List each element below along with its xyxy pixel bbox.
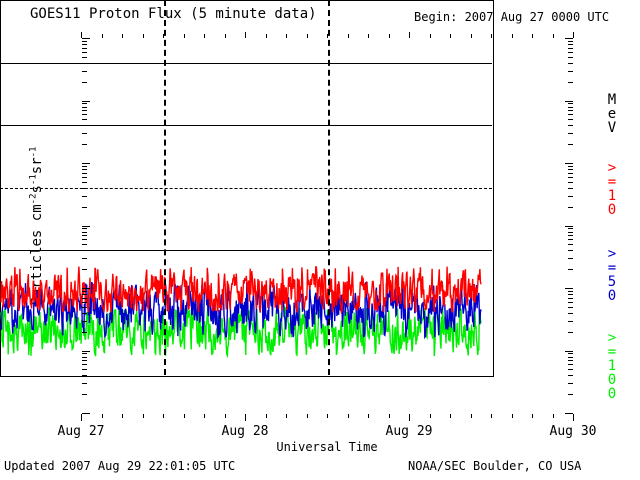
x-minor-tick (389, 414, 390, 418)
x-minor-tick (184, 414, 185, 418)
y-minor-tick (82, 360, 87, 361)
y-minor-tick (568, 207, 573, 208)
y-minor-tick (82, 269, 87, 270)
plot-area (0, 0, 494, 377)
y-minor-tick (568, 235, 573, 236)
x-minor-tick (450, 34, 451, 38)
y-minor-tick (568, 332, 573, 333)
x-minor-tick (163, 34, 164, 38)
y-major-tick (565, 101, 573, 102)
y-major-tick (565, 163, 573, 164)
y-minor-tick (568, 357, 573, 358)
x-minor-tick (307, 34, 308, 38)
x-minor-tick (471, 34, 472, 38)
x-major-tick (245, 414, 246, 421)
y-minor-tick (568, 321, 573, 322)
y-minor-tick (82, 182, 87, 183)
y-minor-tick (82, 298, 87, 299)
x-minor-tick (430, 34, 431, 38)
y-major-tick (82, 351, 90, 352)
y-minor-tick (568, 375, 573, 376)
gridline-1e0 (0, 250, 492, 251)
y-major-tick (565, 413, 573, 414)
x-minor-tick (532, 34, 533, 38)
x-minor-tick (266, 414, 267, 418)
y-minor-tick (568, 48, 573, 49)
y-minor-tick (82, 332, 87, 333)
x-minor-tick (143, 34, 144, 38)
y-minor-tick (82, 228, 87, 229)
y-major-tick (565, 288, 573, 289)
y-minor-tick (568, 307, 573, 308)
y-minor-tick (82, 232, 87, 233)
x-minor-tick (368, 414, 369, 418)
y-minor-tick (82, 250, 87, 251)
y-minor-tick (82, 375, 87, 376)
y-minor-tick (82, 239, 87, 240)
y-minor-tick (82, 114, 87, 115)
x-major-tick (573, 414, 574, 421)
y-minor-tick (82, 107, 87, 108)
x-minor-tick (286, 414, 287, 418)
y-minor-tick (568, 196, 573, 197)
y-minor-tick (82, 294, 87, 295)
y-minor-tick (568, 71, 573, 72)
y-minor-tick (82, 119, 87, 120)
y-minor-tick (82, 173, 87, 174)
x-major-tick (409, 32, 410, 38)
y-major-tick (82, 101, 90, 102)
y-minor-tick (82, 302, 87, 303)
y-minor-tick (82, 44, 87, 45)
y-minor-tick (82, 169, 87, 170)
x-minor-tick (553, 34, 554, 38)
x-minor-tick (122, 34, 123, 38)
y-minor-tick (568, 133, 573, 134)
y-minor-tick (568, 302, 573, 303)
x-minor-tick (491, 414, 492, 418)
x-minor-tick (102, 34, 103, 38)
y-minor-tick (568, 298, 573, 299)
y-minor-tick (568, 250, 573, 251)
y-minor-tick (82, 307, 87, 308)
x-minor-tick (348, 414, 349, 418)
y-minor-tick (568, 182, 573, 183)
y-minor-tick (82, 52, 87, 53)
x-minor-tick (204, 34, 205, 38)
y-major-tick (565, 38, 573, 39)
y-minor-tick (568, 360, 573, 361)
gridline-1e2 (0, 125, 492, 126)
y-minor-tick (568, 228, 573, 229)
x-minor-tick (122, 414, 123, 418)
x-major-tick (573, 32, 574, 38)
x-minor-tick (266, 34, 267, 38)
y-minor-tick (568, 394, 573, 395)
y-major-tick (82, 163, 90, 164)
y-major-tick (565, 351, 573, 352)
legend-item-ge10: >=10 (604, 160, 620, 216)
y-minor-tick (82, 133, 87, 134)
y-minor-tick (82, 57, 87, 58)
y-minor-tick (568, 232, 573, 233)
y-minor-tick (568, 82, 573, 83)
y-minor-tick (568, 239, 573, 240)
footer-source-text: NOAA/SEC Boulder, CO USA (408, 459, 581, 473)
y-minor-tick (568, 110, 573, 111)
y-minor-tick (568, 244, 573, 245)
x-minor-tick (471, 414, 472, 418)
y-minor-tick (82, 321, 87, 322)
y-minor-tick (82, 188, 87, 189)
y-minor-tick (568, 188, 573, 189)
gridline-1e1 (0, 188, 492, 189)
y-minor-tick (568, 294, 573, 295)
y-minor-tick (82, 82, 87, 83)
x-minor-tick (286, 34, 287, 38)
y-minor-tick (568, 353, 573, 354)
legend-item-ge50: >=50 (604, 246, 620, 302)
y-minor-tick (568, 107, 573, 108)
y-minor-tick (568, 103, 573, 104)
y-minor-tick (568, 173, 573, 174)
x-minor-tick (204, 414, 205, 418)
y-minor-tick (568, 63, 573, 64)
y-minor-tick (568, 313, 573, 314)
x-minor-tick (553, 414, 554, 418)
y-minor-tick (82, 244, 87, 245)
y-minor-tick (568, 57, 573, 58)
legend-item-ge100: >=100 (604, 330, 620, 400)
x-minor-tick (184, 34, 185, 38)
y-minor-tick (568, 52, 573, 53)
y-minor-tick (82, 125, 87, 126)
y-minor-tick (82, 353, 87, 354)
y-minor-tick (82, 177, 87, 178)
y-minor-tick (82, 383, 87, 384)
y-minor-tick (568, 169, 573, 170)
x-tick-label-aug30: Aug 30 (550, 424, 597, 439)
y-major-tick (82, 288, 90, 289)
x-major-tick (409, 414, 410, 421)
x-minor-tick (532, 414, 533, 418)
plot-inner (0, 0, 492, 375)
y-minor-tick (82, 63, 87, 64)
y-minor-tick (82, 313, 87, 314)
x-minor-tick (327, 414, 328, 418)
y-minor-tick (568, 166, 573, 167)
y-minor-tick (82, 144, 87, 145)
x-minor-tick (368, 34, 369, 38)
y-major-tick (565, 226, 573, 227)
y-minor-tick (568, 144, 573, 145)
x-major-tick (245, 32, 246, 38)
y-minor-tick (568, 41, 573, 42)
y-minor-tick (568, 291, 573, 292)
x-minor-tick (327, 34, 328, 38)
y-minor-tick (568, 125, 573, 126)
y-minor-tick (568, 383, 573, 384)
x-minor-tick (307, 414, 308, 418)
y-minor-tick (82, 235, 87, 236)
y-minor-tick (568, 114, 573, 115)
y-minor-tick (82, 166, 87, 167)
footer-updated-text: Updated 2007 Aug 29 22:01:05 UTC (4, 459, 235, 473)
y-minor-tick (82, 103, 87, 104)
x-minor-tick (143, 414, 144, 418)
x-minor-tick (491, 34, 492, 38)
x-tick-label-aug29: Aug 29 (386, 424, 433, 439)
y-minor-tick (82, 48, 87, 49)
y-major-tick (82, 38, 90, 39)
y-minor-tick (568, 258, 573, 259)
x-minor-tick (225, 34, 226, 38)
y-major-tick (82, 226, 90, 227)
legend-units-mev: MeV (604, 92, 620, 134)
x-major-tick (81, 414, 82, 421)
y-minor-tick (82, 207, 87, 208)
y-minor-tick (82, 394, 87, 395)
y-minor-tick (82, 258, 87, 259)
x-minor-tick (102, 414, 103, 418)
y-minor-tick (82, 71, 87, 72)
day-boundary-aug28 (164, 0, 166, 375)
gridline-1e3 (0, 63, 492, 64)
x-axis-title: Universal Time (81, 440, 573, 454)
y-minor-tick (82, 110, 87, 111)
y-minor-tick (568, 269, 573, 270)
y-minor-tick (568, 369, 573, 370)
y-minor-tick (82, 41, 87, 42)
y-minor-tick (82, 357, 87, 358)
x-minor-tick (163, 414, 164, 418)
x-minor-tick (512, 414, 513, 418)
x-minor-tick (512, 34, 513, 38)
x-major-tick (81, 32, 82, 38)
x-minor-tick (430, 414, 431, 418)
x-minor-tick (450, 414, 451, 418)
x-minor-tick (389, 34, 390, 38)
day-boundary-aug29 (328, 0, 330, 375)
y-minor-tick (568, 119, 573, 120)
y-minor-tick (568, 364, 573, 365)
y-minor-tick (568, 44, 573, 45)
y-major-tick (82, 413, 90, 414)
y-minor-tick (568, 177, 573, 178)
x-tick-label-aug28: Aug 28 (222, 424, 269, 439)
y-minor-tick (82, 369, 87, 370)
y-minor-tick (82, 364, 87, 365)
x-tick-label-aug27: Aug 27 (58, 424, 105, 439)
x-minor-tick (348, 34, 349, 38)
x-minor-tick (225, 414, 226, 418)
y-minor-tick (82, 196, 87, 197)
y-minor-tick (82, 291, 87, 292)
